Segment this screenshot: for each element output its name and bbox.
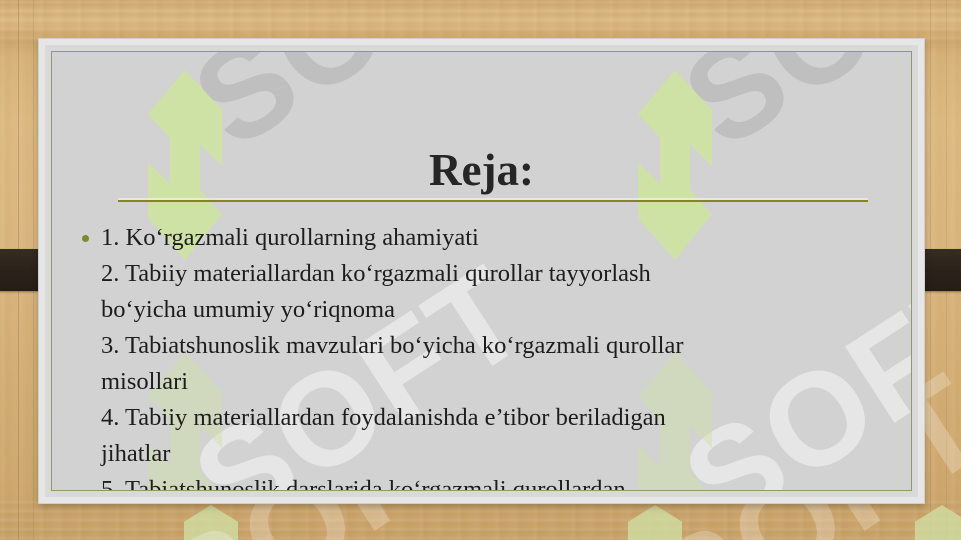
body-line: 1. Ko‘rgazmali qurollarning ahamiyati [101,220,893,256]
slide-body-text: 1. Ko‘rgazmali qurollarning ahamiyati 2.… [101,220,893,491]
slide-frame-inner: SOFT SOFT SOFT SOFT [45,45,918,497]
body-line: 2. Tabiiy materiallardan ko‘rgazmali qur… [101,256,893,292]
slide-title: Reja: [52,144,911,196]
body-line: jihatlar [101,436,893,472]
slide-body-block: 1. Ko‘rgazmali qurollarning ahamiyati 2.… [82,220,893,491]
body-line: 4. Tabiiy materiallardan foydalanishda e… [101,400,893,436]
body-line: 3. Tabiatshunoslik mavzulari bo‘yicha ko… [101,328,893,364]
slide-frame: SOFT SOFT SOFT SOFT [38,38,925,504]
title-divider-rule [118,200,868,202]
body-line: misollari [101,364,893,400]
slide-screenshot: SOFT SOFT SOFT SOFT SOFT SOFT [0,0,961,540]
body-line: bo‘yicha umumiy yo‘riqnoma [101,292,893,328]
wood-grain-horizontal-bottom [0,500,961,540]
slide-canvas: SOFT SOFT SOFT SOFT [51,51,912,491]
body-line: 5. Tabiatshunoslik darslarida ko‘rgazmal… [101,472,893,491]
bullet-dot-icon [82,235,89,242]
